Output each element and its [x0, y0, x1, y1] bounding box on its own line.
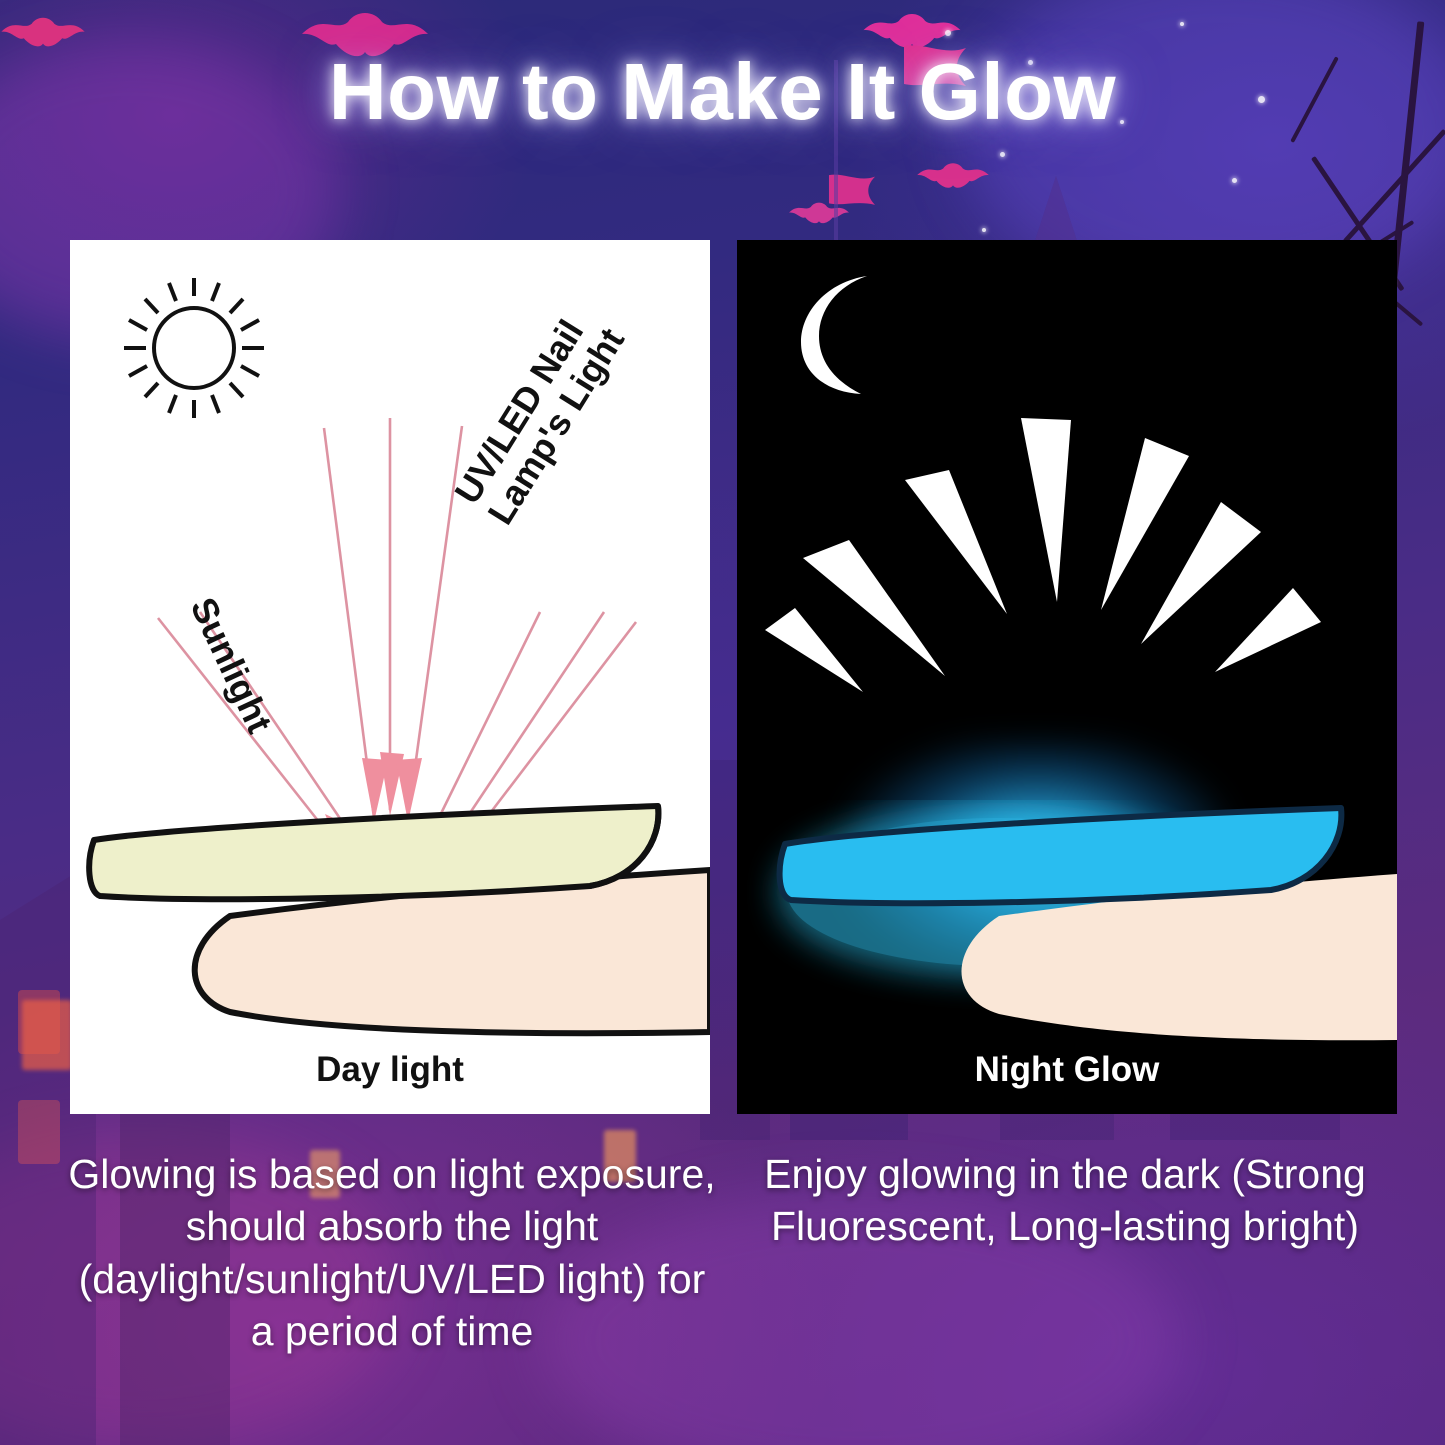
promo-graphic: How to Make It Glow — [0, 0, 1445, 1445]
star — [982, 228, 986, 232]
caption-left: Glowing is based on light exposure, shou… — [62, 1148, 722, 1358]
panel-day-light: Sunlight UV/LED Nail Lamp's Light Day li… — [70, 240, 710, 1114]
star — [1180, 22, 1184, 26]
panel-night-glow: Night Glow — [737, 240, 1397, 1114]
pennant-flag — [826, 170, 878, 210]
star — [1000, 152, 1005, 157]
bat-icon — [916, 160, 990, 196]
caption-right: Enjoy glowing in the dark (Strong Fluore… — [735, 1148, 1395, 1253]
page-title: How to Make It Glow — [0, 46, 1445, 138]
star — [1232, 178, 1237, 183]
tree-branch — [1343, 129, 1445, 244]
finger-day-illustration — [70, 800, 710, 1060]
bat-icon — [788, 200, 850, 230]
panel-caption-night: Night Glow — [737, 1050, 1397, 1090]
panel-caption-day: Day light — [70, 1050, 710, 1090]
lantern-glow — [22, 1000, 72, 1070]
star — [945, 30, 951, 36]
finger-night-illustration — [737, 800, 1397, 1060]
